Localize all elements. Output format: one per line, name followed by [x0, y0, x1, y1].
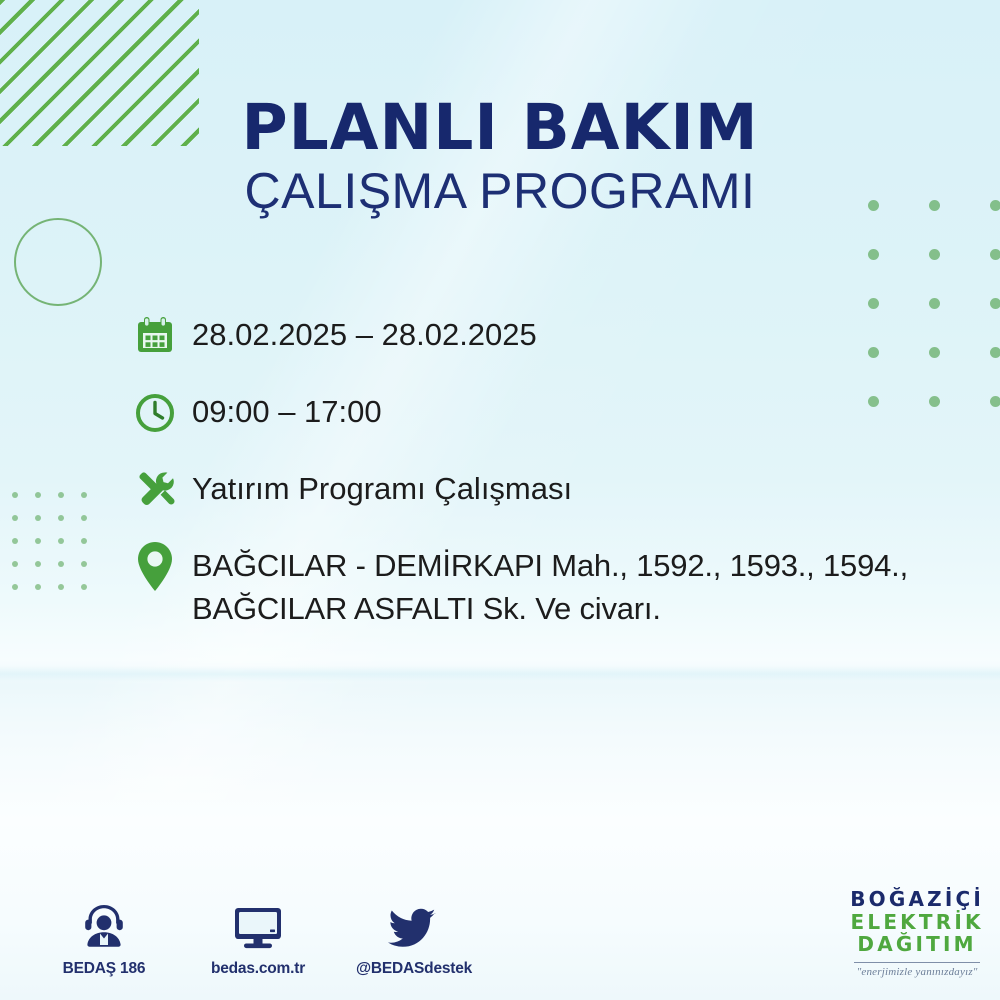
brand-line-3: DAĞITIM	[850, 933, 984, 955]
dot-grid-left-decoration	[12, 492, 87, 590]
twitter-bird-icon	[356, 900, 468, 952]
work-type-text: Yatırım Programı Çalışması	[192, 466, 572, 511]
contact-twitter[interactable]: @BEDASdestek	[356, 900, 468, 978]
contact-website[interactable]: bedas.com.tr	[202, 900, 314, 978]
brand-line-1: BOĞAZİÇİ	[850, 888, 984, 910]
detail-row-address: BAĞCILAR - DEMİRKAPI Mah., 1592., 1593.,…	[134, 543, 964, 631]
contact-phone[interactable]: BEDAŞ 186	[48, 900, 160, 978]
headset-support-icon	[48, 900, 160, 952]
poster-header: PLANLI BAKIM ÇALIŞMA PROGRAMI	[0, 96, 1000, 218]
contact-phone-label: BEDAŞ 186	[48, 960, 160, 978]
monitor-icon	[202, 900, 314, 952]
brand-slogan: "enerjimizle yanınızdayız"	[850, 966, 984, 978]
detail-row-work-type: Yatırım Programı Çalışması	[134, 466, 964, 514]
maintenance-details: 28.02.2025 – 28.02.2025 09:00 – 17:00	[134, 312, 964, 631]
brand-line-2: ELEKTRİK	[850, 911, 984, 933]
footer-contacts: BEDAŞ 186 bedas.com.tr @BEDASdestek	[48, 900, 468, 978]
address-line-2: BAĞCILAR ASFALTI Sk. Ve civarı.	[192, 588, 908, 631]
contact-twitter-label: @BEDASdestek	[356, 960, 468, 978]
location-pin-icon	[134, 543, 192, 591]
bedas-logo: BOĞAZİÇİ ELEKTRİK DAĞITIM "enerjimizle y…	[850, 888, 984, 978]
address-text: BAĞCILAR - DEMİRKAPI Mah., 1592., 1593.,…	[192, 543, 908, 631]
planned-maintenance-poster: PLANLI BAKIM ÇALIŞMA PROGRAMI	[0, 0, 1000, 1000]
clock-icon	[134, 389, 192, 437]
contact-website-label: bedas.com.tr	[202, 960, 314, 978]
tools-icon	[134, 466, 192, 514]
detail-row-time: 09:00 – 17:00	[134, 389, 964, 437]
time-range-text: 09:00 – 17:00	[192, 389, 382, 434]
circle-outline-decoration	[14, 218, 102, 306]
calendar-icon	[134, 312, 192, 360]
brand-divider	[854, 962, 980, 964]
background-band	[0, 666, 1000, 682]
detail-row-date: 28.02.2025 – 28.02.2025	[134, 312, 964, 360]
page-title: PLANLI BAKIM	[0, 96, 1000, 159]
address-line-1: BAĞCILAR - DEMİRKAPI Mah., 1592., 1593.,…	[192, 545, 908, 588]
page-subtitle: ÇALIŞMA PROGRAMI	[0, 165, 1000, 218]
date-range-text: 28.02.2025 – 28.02.2025	[192, 312, 537, 357]
